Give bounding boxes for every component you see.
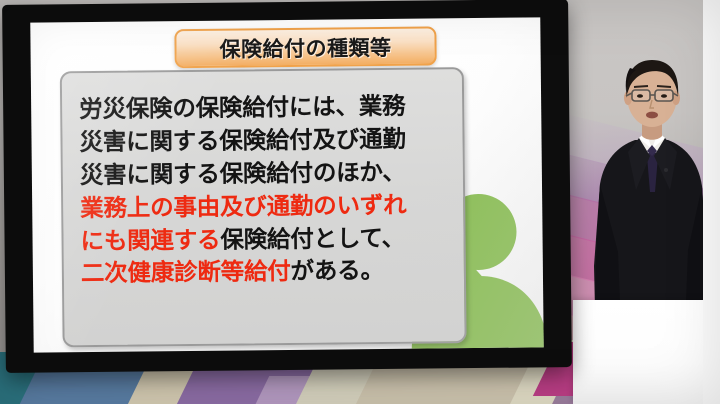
text-segment-red: 業務上の事由及び通勤のいずれ — [80, 190, 406, 221]
studio-scene: 保険給付の種類等 労災保険の保険給付には、業務 災害に — [0, 0, 720, 404]
text-segment: 災害に関する保険給付及び通勤 — [79, 125, 405, 156]
slide-body-text: 労災保険の保険給付には、業務 災害に関する保険給付及び通勤 災害に関する保険給付… — [79, 89, 453, 290]
slide-line-1: 労災保険の保険給付には、業務 — [79, 89, 451, 126]
podium — [573, 300, 720, 404]
text-segment: 保険給付として、 — [220, 223, 405, 253]
slide-line-2: 災害に関する保険給付及び通勤 — [79, 122, 451, 159]
text-segment: がある。 — [290, 256, 383, 285]
slide: 保険給付の種類等 労災保険の保険給付には、業務 災害に — [30, 17, 543, 352]
slide-content-box: 労災保険の保険給付には、業務 災害に関する保険給付及び通勤 災害に関する保険給付… — [60, 67, 467, 347]
text-segment: 労災保険の保険給付には、業務 — [79, 92, 405, 123]
slide-line-4: 業務上の事由及び通勤のいずれ — [80, 188, 452, 225]
text-segment-red: にも関連する — [80, 225, 220, 254]
slide-line-6: 二次健康診断等給付がある。 — [81, 254, 453, 291]
slide-line-3: 災害に関する保険給付のほか、 — [80, 155, 452, 192]
text-segment-red: 二次健康診断等給付 — [81, 257, 291, 287]
presentation-monitor: 保険給付の種類等 労災保険の保険給付には、業務 災害に — [2, 0, 572, 373]
right-wall-edge — [703, 0, 720, 404]
text-segment: 災害に関する保険給付のほか、 — [80, 158, 406, 189]
monitor-screen: 保険給付の種類等 労災保険の保険給付には、業務 災害に — [30, 17, 543, 352]
slide-title: 保険給付の種類等 — [219, 31, 391, 63]
slide-title-banner: 保険給付の種類等 — [174, 26, 436, 68]
slide-line-5: にも関連する保険給付として、 — [80, 221, 452, 258]
